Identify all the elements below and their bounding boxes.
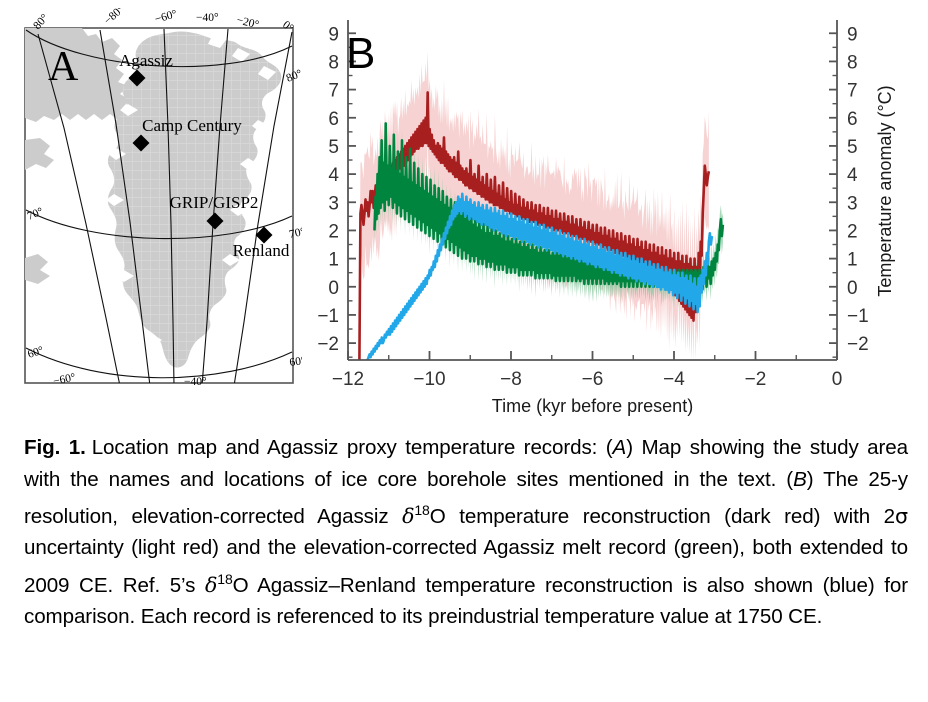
caption-part-4: O temperature reconstruction (dark red) … (430, 505, 895, 528)
y-tick-label-left-4: 4 (328, 165, 339, 186)
x-tick-label--8: −8 (500, 369, 522, 390)
y-axis-title-right: Temperature anomaly (°C) (875, 85, 895, 296)
x-axis-title: Time (kyr before present) (492, 396, 693, 416)
graticule-label-lon-minus40-bottom: −40° (184, 376, 207, 388)
y-tick-label-right-6: 6 (847, 109, 858, 130)
caption-italic-b: B (793, 468, 807, 491)
y-tick-label-left-7: 7 (328, 81, 339, 102)
graticule-label-lon-minus60-top: −60° (154, 8, 179, 26)
y-tick-label-right-8: 8 (847, 52, 858, 73)
x-tick-label--2: −2 (745, 369, 767, 390)
y-tick-label-left-5: 5 (328, 137, 339, 158)
y-tick-label-left-3: 3 (328, 193, 339, 214)
x-tick-label--12: −12 (332, 369, 364, 390)
x-tick-label--6: −6 (582, 369, 604, 390)
y-tick-label-left-2: 2 (328, 221, 339, 242)
y-tick-label-left-1: 1 (328, 250, 339, 271)
site-label-grip-gisp2: GRIP/GISP2 (170, 193, 259, 212)
y-tick-label-right-3: 3 (847, 193, 858, 214)
y-tick-label-left-6: 6 (328, 109, 339, 130)
caption-superscript-18-2: 18 (217, 571, 232, 587)
panel-letter-a: A (48, 44, 79, 90)
y-tick-label-right-0: 0 (847, 278, 858, 299)
figure-root: A Agassiz Camp Century GRIP/GISP2 (0, 0, 928, 702)
figure-caption: Fig. 1.Location map and Agassiz proxy te… (24, 432, 908, 633)
x-tick-label-0: 0 (832, 369, 843, 390)
y-tick-label-right--1: −1 (847, 306, 869, 327)
panel-b-temperature-chart: −2−2−1−100112233445566778899−12−10−8−6−4… (300, 8, 920, 420)
caption-italic-a: A (613, 436, 627, 459)
map-svg: A Agassiz Camp Century GRIP/GISP2 (24, 8, 302, 388)
y-tick-label-right-4: 4 (847, 165, 858, 186)
y-tick-label-right-7: 7 (847, 81, 858, 102)
caption-delta-1: δ (402, 504, 414, 528)
panel-a-location-map: A Agassiz Camp Century GRIP/GISP2 (24, 8, 302, 388)
caption-part-1: Location map and Agassiz proxy temperatu… (92, 436, 613, 459)
caption-delta-2: δ (205, 573, 217, 597)
y-tick-label-right-9: 9 (847, 24, 858, 45)
y-tick-label-right--2: −2 (847, 334, 869, 355)
caption-sigma: σ (895, 504, 908, 528)
graticule-label-lon-minus80-top: −80° (102, 8, 127, 27)
x-tick-label--4: −4 (663, 369, 685, 390)
y-tick-label-left-9: 9 (328, 24, 339, 45)
y-tick-label-right-5: 5 (847, 137, 858, 158)
y-tick-label-right-1: 1 (847, 250, 858, 271)
y-tick-label-right-2: 2 (847, 221, 858, 242)
temperature-anomaly-chart: −2−2−1−100112233445566778899−12−10−8−6−4… (300, 8, 920, 420)
x-tick-label--10: −10 (413, 369, 445, 390)
site-label-agassiz: Agassiz (119, 51, 173, 70)
caption-superscript-18-1: 18 (414, 502, 429, 518)
y-tick-label-left-0: 0 (328, 278, 339, 299)
caption-label: Fig. 1. (24, 436, 86, 459)
y-tick-label-left--2: −2 (317, 334, 339, 355)
y-tick-label-left--1: −1 (317, 306, 339, 327)
y-tick-label-left-8: 8 (328, 52, 339, 73)
site-label-camp-century: Camp Century (142, 116, 242, 135)
graticule-label-lon-minus40-top: −40° (196, 12, 219, 24)
site-label-renland: Renland (233, 241, 290, 260)
panel-letter-b: B (346, 29, 375, 78)
